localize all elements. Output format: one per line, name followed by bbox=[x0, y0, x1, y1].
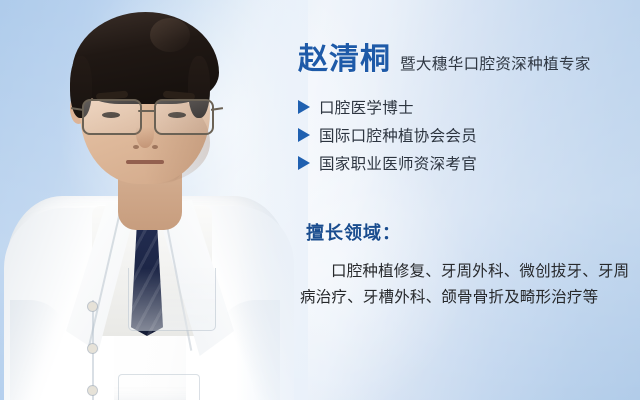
coat-chest-pocket bbox=[128, 268, 216, 331]
triangle-bullet-icon bbox=[298, 128, 310, 142]
doctor-profile-banner: 赵清桐 暨大穗华口腔资深种植专家 口腔医学博士 国际口腔种植协会会员 国家职业医… bbox=[0, 0, 640, 400]
nose bbox=[136, 118, 154, 148]
mouth bbox=[126, 160, 164, 164]
coat-button-1 bbox=[88, 302, 97, 311]
coat-lower-pocket bbox=[118, 374, 200, 400]
credential-label: 口腔医学博士 bbox=[319, 96, 414, 118]
doctor-name: 赵清桐 bbox=[298, 34, 391, 78]
nostril-right bbox=[152, 145, 158, 149]
doctor-name-row: 赵清桐 暨大穗华口腔资深种植专家 bbox=[298, 34, 591, 78]
credential-label: 国家职业医师资深考官 bbox=[319, 152, 477, 174]
credential-item: 国家职业医师资深考官 bbox=[298, 149, 477, 177]
coat-button-2 bbox=[88, 344, 97, 353]
credential-item: 口腔医学博士 bbox=[298, 93, 477, 121]
nostril-left bbox=[133, 145, 139, 149]
credential-label: 国际口腔种植协会会员 bbox=[319, 124, 477, 146]
expertise-body: 口腔种植修复、牙周外科、微创拔牙、牙周病治疗、牙槽外科、颌骨骨折及畸形治疗等 bbox=[300, 258, 634, 310]
eyeglass-lens-left bbox=[82, 99, 142, 135]
eyeglass-lens-right bbox=[154, 99, 214, 135]
eyeglass-temple-right bbox=[211, 107, 223, 111]
doctor-portrait-photo bbox=[0, 0, 290, 400]
triangle-bullet-icon bbox=[298, 156, 310, 170]
profile-text-panel: 赵清桐 暨大穗华口腔资深种植专家 口腔医学博士 国际口腔种植协会会员 国家职业医… bbox=[296, 0, 640, 400]
expertise-heading: 擅长领域： bbox=[306, 219, 401, 245]
coat-button-3 bbox=[88, 386, 97, 395]
hair-highlight bbox=[150, 18, 190, 52]
triangle-bullet-icon bbox=[298, 100, 310, 114]
doctor-subtitle: 暨大穗华口腔资深种植专家 bbox=[400, 52, 591, 74]
credentials-list: 口腔医学博士 国际口腔种植协会会员 国家职业医师资深考官 bbox=[298, 93, 477, 177]
credential-item: 国际口腔种植协会会员 bbox=[298, 121, 477, 149]
coat-sleeve-fold-right bbox=[216, 300, 280, 400]
coat-sleeve-fold-left bbox=[10, 300, 66, 400]
